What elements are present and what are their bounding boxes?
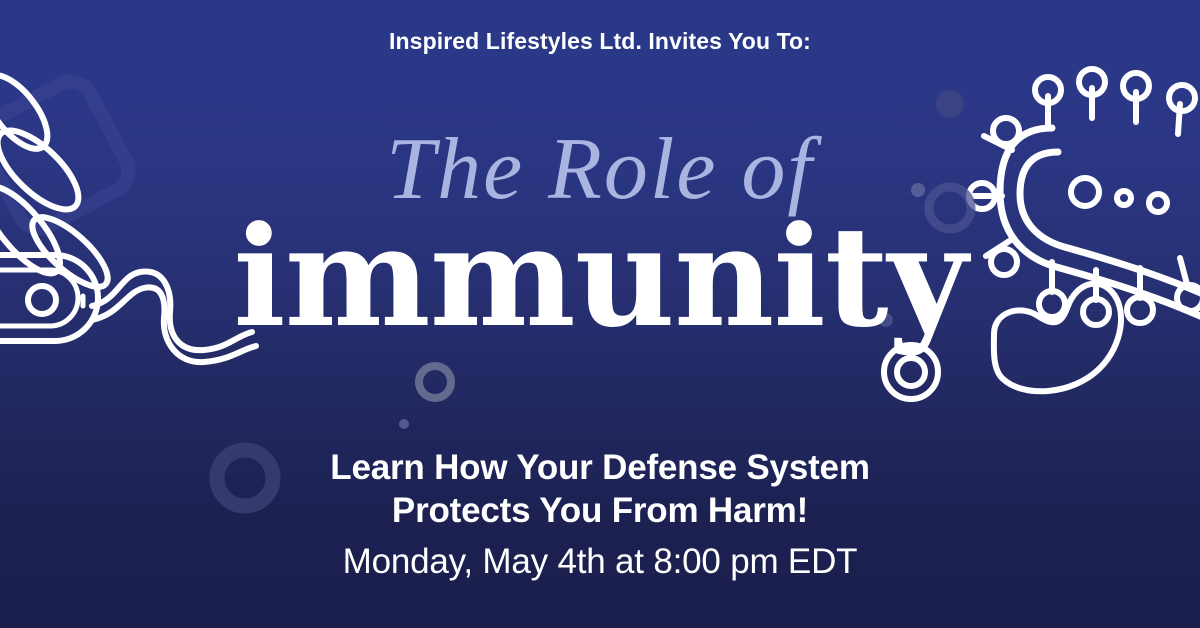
title-main-word: immunity <box>0 208 1200 346</box>
webinar-promo-poster: Inspired Lifestyles Ltd. Invites You To:… <box>0 0 1200 628</box>
event-datetime: Monday, May 4th at 8:00 pm EDT <box>0 542 1200 582</box>
subheadline-line-1: Learn How Your Defense System <box>0 447 1200 490</box>
invitation-line: Inspired Lifestyles Ltd. Invites You To: <box>0 28 1200 55</box>
subheadline-line-2: Protects You From Harm! <box>0 490 1200 533</box>
poster-content: Inspired Lifestyles Ltd. Invites You To:… <box>0 0 1200 628</box>
subheadline: Learn How Your Defense System Protects Y… <box>0 447 1200 532</box>
